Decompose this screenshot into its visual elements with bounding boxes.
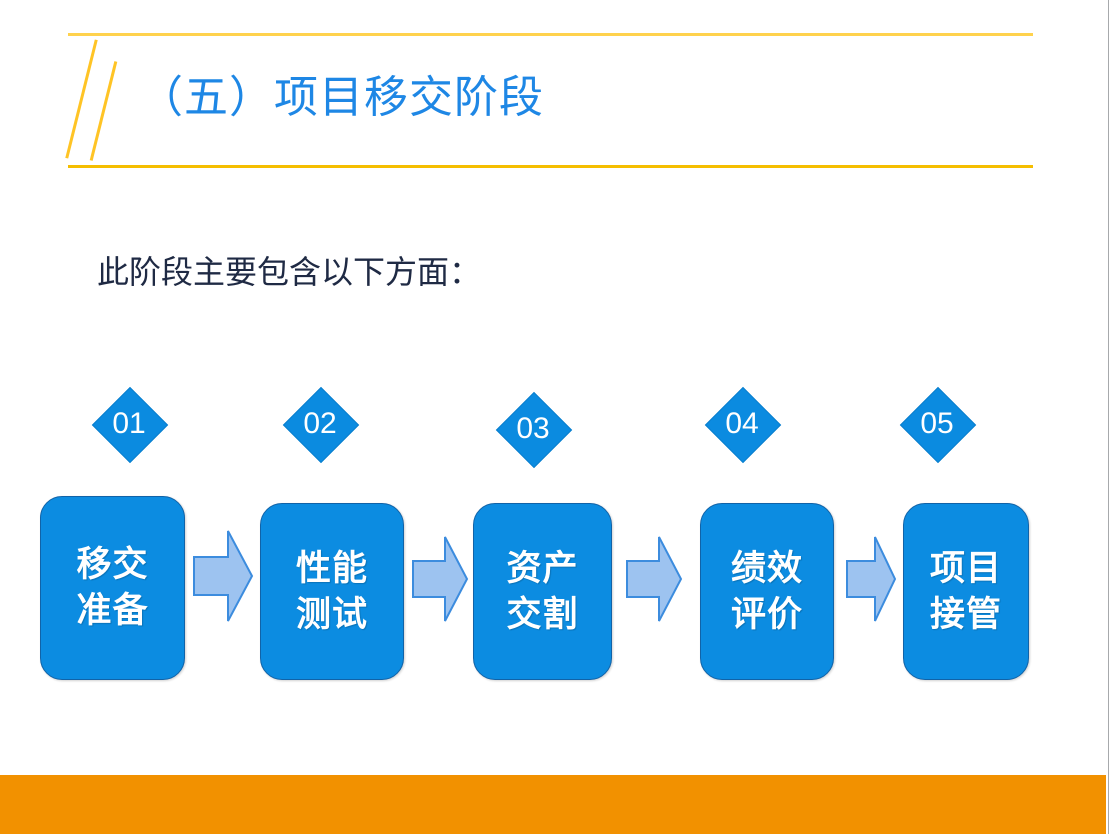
right-edge-rule	[1108, 0, 1109, 834]
stage-5-line-2: 接管	[930, 592, 1002, 638]
stage-4-line-1: 绩效	[731, 546, 803, 592]
stage-3-line-1: 资产	[506, 546, 578, 592]
stage-box-3[interactable]: 资产 交割	[473, 503, 612, 680]
step-number-3: 03	[493, 414, 573, 444]
step-number-2: 02	[280, 409, 360, 439]
process-flow-diagram: 01 02 03 04 05 移交 准备 性能 测试 资产 交割 绩效 评价 项…	[0, 0, 1111, 834]
stage-5-line-1: 项目	[930, 546, 1002, 592]
flow-arrow-icon-1	[192, 527, 254, 630]
stage-box-2[interactable]: 性能 测试	[260, 503, 404, 680]
stage-1-line-2: 准备	[76, 588, 148, 634]
stage-box-1[interactable]: 移交 准备	[40, 496, 185, 680]
stage-box-5[interactable]: 项目 接管	[903, 503, 1029, 680]
stage-2-line-1: 性能	[296, 546, 368, 592]
stage-2-line-2: 测试	[296, 592, 368, 638]
stage-4-line-2: 评价	[731, 592, 803, 638]
footer-accent-bar	[0, 775, 1106, 834]
step-number-5: 05	[897, 409, 977, 439]
flow-arrow-icon-4	[845, 533, 897, 630]
flow-arrow-icon-2	[411, 533, 469, 630]
slide-canvas: （五）项目移交阶段 此阶段主要包含以下方面： 01 02 03 04 05 移交…	[0, 0, 1111, 834]
stage-box-4[interactable]: 绩效 评价	[700, 503, 834, 680]
flow-arrow-icon-3	[625, 533, 683, 630]
step-number-4: 04	[702, 409, 782, 439]
step-number-1: 01	[89, 409, 169, 439]
stage-1-line-1: 移交	[76, 542, 148, 588]
stage-3-line-2: 交割	[506, 592, 578, 638]
